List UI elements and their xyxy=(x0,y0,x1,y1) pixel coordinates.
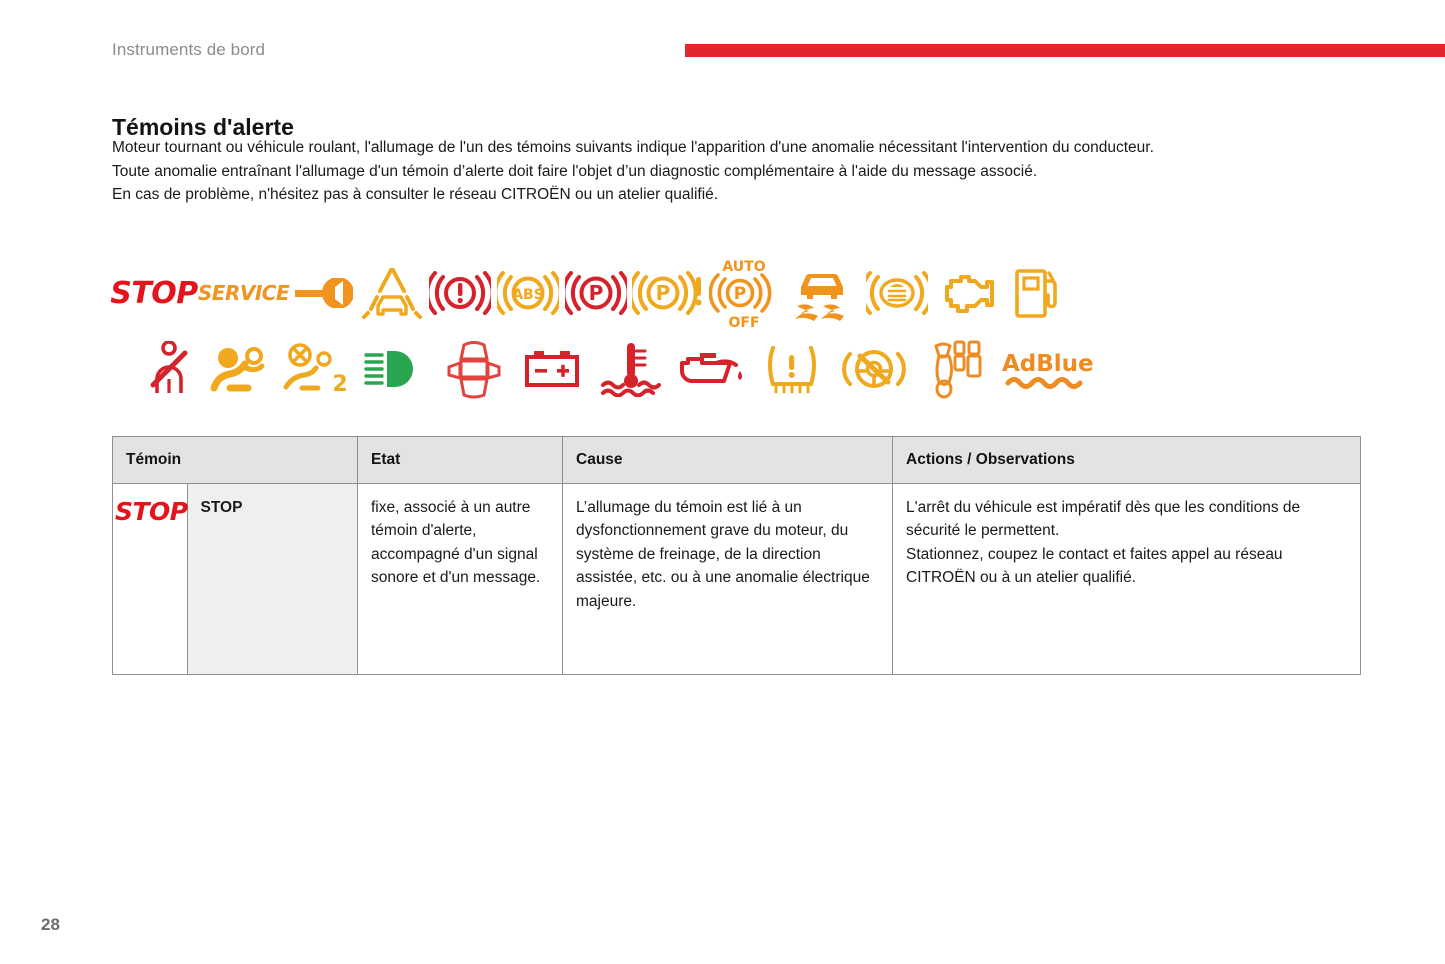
abs-warning-icon: ABS xyxy=(494,269,562,317)
column-header-actions: Actions / Observations xyxy=(893,437,1361,484)
table-row: STOP STOP fixe, associé à un autre témoi… xyxy=(113,483,1361,674)
high-beam-icon xyxy=(356,348,436,390)
page-header: Instruments de bord xyxy=(0,0,1445,80)
tyre-pressure-icon xyxy=(752,342,832,396)
column-header-cause: Cause xyxy=(563,437,893,484)
passenger-airbag-off-icon: 2 xyxy=(276,343,356,395)
parking-brake-fault-icon: P xyxy=(630,269,706,317)
stop-wordmark-icon: STOP xyxy=(112,276,196,311)
engine-check-icon xyxy=(932,271,1004,315)
battery-charge-icon xyxy=(512,349,592,389)
warning-lamp-row-1: STOP SERVICE xyxy=(112,255,1362,331)
warning-lamp-row-2: 2 xyxy=(112,331,1362,407)
intro-line-3: En cas de problème, n'hésitez pas à cons… xyxy=(112,183,1292,207)
service-wordmark-icon: SERVICE xyxy=(196,281,291,305)
page-number: 28 xyxy=(41,915,60,935)
low-fuel-icon xyxy=(1004,267,1070,319)
cell-etat: fixe, associé à un autre témoin d'alerte… xyxy=(358,483,563,674)
coolant-temperature-icon xyxy=(592,341,670,397)
svg-text:2: 2 xyxy=(332,372,347,395)
svg-text:ABS: ABS xyxy=(512,287,544,303)
power-steering-fault-icon xyxy=(832,344,916,394)
brake-fluid-warning-icon xyxy=(426,269,494,317)
door-open-icon xyxy=(436,339,512,399)
header-red-rule xyxy=(685,44,1445,57)
glow-plug-preheating-icon xyxy=(916,338,992,400)
svg-text:P: P xyxy=(589,281,604,305)
engine-oil-pressure-icon xyxy=(670,349,752,389)
svg-text:OFF: OFF xyxy=(728,315,759,329)
warning-lamp-gallery: STOP SERVICE xyxy=(112,255,1362,407)
airbag-icon xyxy=(204,344,276,394)
column-header-etat: Etat xyxy=(358,437,563,484)
stop-wordmark-icon: STOP STOP xyxy=(113,483,358,674)
svg-text:AdBlue: AdBlue xyxy=(1002,351,1094,377)
intro-line-1: Moteur tournant ou véhicule roulant, l'a… xyxy=(112,136,1292,160)
brake-pad-wear-icon xyxy=(862,269,932,317)
intro-line-2: Toute anomalie entraînant l'allumage d'u… xyxy=(112,160,1292,184)
cell-cause: L’allumage du témoin est lié à un dysfon… xyxy=(563,483,893,674)
temoin-name: STOP xyxy=(201,499,243,516)
wrench-service-icon xyxy=(291,278,357,308)
intro-paragraphs: Moteur tournant ou véhicule roulant, l'a… xyxy=(112,136,1292,207)
parking-brake-icon: P xyxy=(562,269,630,317)
stop-icon-label: STOP xyxy=(115,494,188,524)
seat-belt-unfastened-icon xyxy=(134,341,204,397)
traction-control-esp-icon xyxy=(782,264,862,322)
running-head: Instruments de bord xyxy=(112,40,265,60)
svg-text:P: P xyxy=(734,284,746,304)
svg-text:P: P xyxy=(656,281,671,305)
adblue-wordmark-icon: AdBlue xyxy=(992,345,1112,393)
auto-parking-brake-off-icon: AUTO P OFF xyxy=(706,257,782,329)
warning-lamp-table: Témoin Etat Cause Actions / Observations… xyxy=(112,436,1361,675)
column-header-temoin: Témoin xyxy=(113,437,358,484)
table-header-row: Témoin Etat Cause Actions / Observations xyxy=(113,437,1361,484)
lane-departure-warning-icon xyxy=(357,267,426,319)
svg-text:AUTO: AUTO xyxy=(722,259,765,275)
cell-actions: L'arrêt du véhicule est impératif dès qu… xyxy=(893,483,1361,674)
